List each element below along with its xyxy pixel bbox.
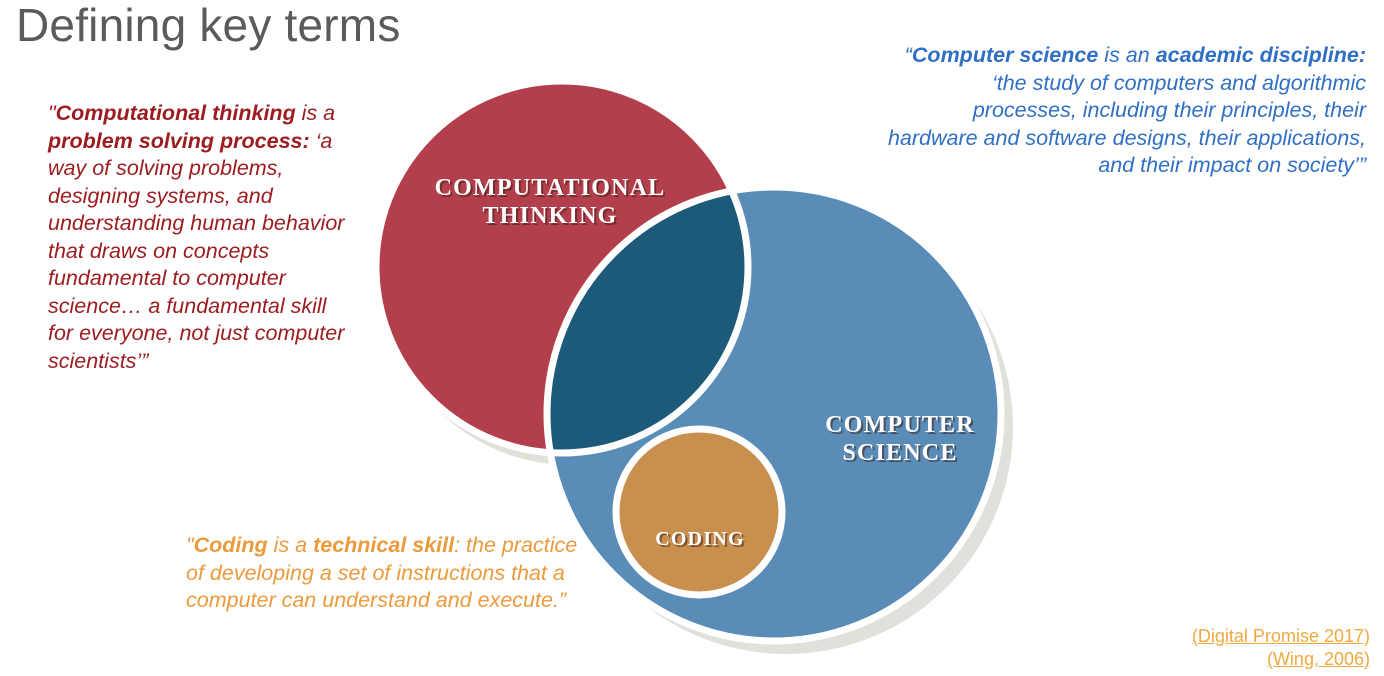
quote-coding: "Coding is a technical skill: the practi… bbox=[186, 532, 598, 615]
quote-cs-term-1: Computer science bbox=[912, 43, 1098, 67]
quote-ct-term-2: problem solving process: bbox=[48, 129, 310, 153]
quote-cs-openquote: “ bbox=[905, 43, 912, 67]
quote-ct-mid: is a bbox=[296, 101, 335, 125]
citation-link-wing[interactable]: (Wing, 2006) bbox=[1192, 648, 1370, 672]
citations-group: (Digital Promise 2017) (Wing, 2006) bbox=[1192, 625, 1370, 673]
quote-computer-science: “Computer science is an academic discipl… bbox=[886, 42, 1366, 180]
page-title: Defining key terms bbox=[16, 0, 401, 52]
quote-coding-mid: is a bbox=[268, 533, 313, 557]
quote-cs-mid: is an bbox=[1098, 43, 1155, 67]
quote-coding-term-1: Coding bbox=[194, 533, 268, 557]
quote-computational-thinking: "Computational thinking is a problem sol… bbox=[48, 100, 348, 375]
quote-ct-term-1: Computational thinking bbox=[56, 101, 296, 125]
quote-ct-openquote: " bbox=[48, 101, 56, 125]
quote-coding-term-2: technical skill bbox=[313, 533, 454, 557]
quote-coding-openquote: " bbox=[186, 533, 194, 557]
slide-canvas: Defining key terms bbox=[0, 0, 1384, 676]
quote-cs-body: ‘the study of computers and algorithmic … bbox=[888, 71, 1366, 178]
quote-ct-body: ‘a way of solving problems, designing sy… bbox=[48, 129, 344, 373]
quote-cs-term-2: academic discipline: bbox=[1156, 43, 1366, 67]
citation-link-digital-promise[interactable]: (Digital Promise 2017) bbox=[1192, 625, 1370, 649]
